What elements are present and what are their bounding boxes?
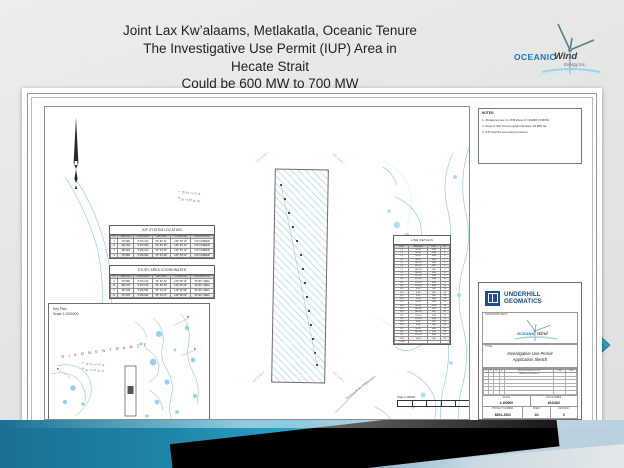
table-row: D373 8705 935 66053° 34' 07"130° 58' 00"… — [111, 293, 214, 298]
sheet-border-inner: H E C A T E S T R A I T — [31, 97, 593, 431]
table-title: IUP SYSTEM LOCATION — [110, 226, 214, 235]
underhill-geomatics-logo: UNDERHILL GEOMATICS — [482, 286, 578, 310]
table-body: PTEASTINGNORTHINGLATITUDELONGITUDEDESCRI… — [110, 235, 214, 259]
label-hecate-strait: H E C A T E S T R A I T — [176, 190, 201, 204]
notes-heading: NOTES: — [482, 111, 494, 115]
sheet-right-column: NOTES: 1. Distances are in UTM Zone 9, N… — [474, 106, 584, 420]
svg-text:Wind: Wind — [537, 331, 548, 336]
logo-subtitle: Energy Inc. — [564, 62, 586, 67]
iup-tenure-polygon[interactable] — [271, 169, 329, 384]
file-value: #041182 — [531, 401, 578, 405]
label-inset-hecate-strait: H E C A T E S T R A I T — [80, 362, 105, 374]
firm-name-line-2: GEOMATICS — [504, 298, 542, 305]
title-block-revision-table: NEWSREVISION DESCRIPTIONDWGCHK ISSUED FO… — [482, 368, 578, 396]
footer-highlight — [0, 420, 624, 428]
table-footer-row: TOTAL — [395, 340, 450, 343]
underhill-mark-icon — [485, 291, 500, 306]
project-caption: PROJECT NUMBER — [483, 408, 522, 410]
table-cell: 5 935 660 — [134, 293, 152, 298]
table-title: STUDY AREA COORDINATES — [110, 266, 214, 275]
revision-cell — [504, 390, 554, 394]
main-map[interactable]: H E C A T E S T R A I T — [44, 106, 470, 420]
client-logo-icon: OCEANIC Wind — [487, 317, 583, 343]
client-caption: CLIENT/PROJECT — [485, 313, 507, 316]
note-item-2: 2. Area of IUP Area is approximately 19,… — [482, 124, 547, 128]
note-item-1: 1. Distances are in UTM Zone 9, NAD83 (C… — [482, 118, 550, 122]
table-cell — [440, 340, 450, 343]
oceanic-wind-logo: OCEANIC Wind Energy Inc. — [508, 16, 614, 80]
table-cell — [428, 340, 440, 343]
revision-cell: REVISION 0 — [551, 407, 577, 418]
table-cell: D — [111, 293, 118, 298]
table-cell: TOTAL — [395, 340, 409, 343]
table-row: 4373 8905 935 68053° 34' 08"130° 58' 02"… — [111, 253, 214, 258]
table-rows: A373 8005 970 14053° 52' 42"130° 58' 14"… — [111, 279, 214, 298]
sheet-border-outer: H E C A T E S T R A I T — [27, 93, 597, 435]
scale-bar: Scale 1:100000 10 km — [397, 396, 470, 407]
underhill-name: UNDERHILL GEOMATICS — [504, 291, 542, 305]
note-item-3: 3. IUP Depths are using contours. — [482, 130, 528, 134]
svg-text:OCEANIC: OCEANIC — [517, 331, 536, 336]
inset-coastline — [49, 304, 209, 420]
table-cell: 130° 58' 02" — [171, 253, 191, 258]
notes-block: NOTES: 1. Distances are in UTM Zone 9, N… — [478, 108, 582, 164]
logo-oceanic-text: OCEANIC — [514, 52, 556, 62]
table-cell: STUDY AREA — [191, 293, 214, 298]
drawing-title: Investigative Use Permit Application Ske… — [483, 351, 577, 364]
scale-value: 1:100000 — [483, 401, 530, 405]
slide-footer-decoration — [0, 420, 624, 468]
annotation-leader-line — [333, 379, 393, 419]
title-line-3: Hecate Strait — [60, 58, 480, 76]
rev-value: 0 — [551, 413, 577, 417]
inset-key-plan[interactable]: Key Plan Scale 1:1000000 — [48, 303, 210, 420]
table-body: PTEASTINGNORTHINGLATITUDELONGITUDEDESCRI… — [110, 275, 214, 299]
table-cell: 53° 34' 08" — [152, 253, 170, 258]
table-cell: 53° 34' 07" — [152, 293, 170, 298]
table-cell — [409, 340, 428, 343]
table-body: LINEBEARINGDIST.No. L190°00'10001L290°00… — [394, 245, 450, 344]
north-arrow-icon — [71, 117, 81, 191]
drawing-sheet[interactable]: H E C A T E S T R A I T — [22, 88, 602, 440]
table-cell: IUP CORNER — [191, 253, 214, 258]
title-caption: TITLE — [485, 345, 492, 348]
file-caption: FILE NUMBER — [531, 397, 578, 399]
rev-caption: REVISION — [551, 408, 577, 410]
table-cell: 373 870 — [118, 293, 134, 298]
table-rows: 1373 8205 970 12053° 52' 41"130° 58' 12"… — [111, 239, 214, 258]
scale-bar-caption: Scale 1:100000 — [397, 396, 470, 399]
firm-name-line-1: UNDERHILL — [504, 291, 541, 298]
wind-turbine-icon — [508, 16, 614, 80]
table-study-area-coordinates[interactable]: STUDY AREA COORDINATES PTEASTINGNORTHING… — [109, 265, 215, 299]
revision-cell — [566, 390, 577, 394]
revision-rows: ISSUED FOR REVIEW — [484, 373, 577, 395]
table-iup-system-location[interactable]: IUP SYSTEM LOCATION PTEASTINGNORTHINGLAT… — [109, 225, 215, 259]
scale-cell: SCALE 1:100000 — [483, 396, 531, 406]
page-title: Joint Lax Kw’alaams, Metlakatla, Oceanic… — [60, 22, 480, 93]
drawing-title-line-2: Application Sketch — [513, 357, 547, 362]
table-cell: 130° 58' 00" — [171, 293, 191, 298]
scale-caption: SCALE — [483, 397, 530, 399]
title-block-title-cell: TITLE Investigative Use Permit Applicati… — [482, 344, 578, 368]
revision-cell — [554, 390, 566, 394]
revision-table: NEWSREVISION DESCRIPTIONDWGCHK ISSUED FO… — [483, 369, 577, 395]
file-number-cell: FILE NUMBER #041182 — [531, 396, 578, 406]
table-rows: L190°00'10001L290°00'10002L390°00'10003L… — [395, 248, 450, 343]
logo-wind-text: Wind — [554, 51, 577, 62]
title-block-bottom-row: PROJECT NUMBER 8204–2204 SHEET 1/1 REVIS… — [482, 406, 578, 419]
sheet-caption: SHEET — [523, 408, 549, 410]
title-line-1: Joint Lax Kw’alaams, Metlakatla, Oceanic… — [60, 22, 480, 40]
table-cell: 373 890 — [118, 253, 134, 258]
presentation-slide: Joint Lax Kw’alaams, Metlakatla, Oceanic… — [0, 0, 624, 468]
project-value: 8204–2204 — [483, 413, 522, 417]
drawing-title-line-1: Investigative Use Permit — [507, 351, 552, 356]
table-line-details[interactable]: LINE DETAILS LINEBEARINGDIST.No. L190°00… — [393, 235, 451, 345]
sheet-value: 1/1 — [523, 413, 549, 417]
table-cell: 5 935 680 — [134, 253, 153, 258]
title-line-2: The Investigative Use Permit (IUP) Area … — [60, 40, 480, 58]
revision-row — [484, 390, 577, 394]
sheet-cell: SHEET 1/1 — [523, 407, 550, 418]
title-block[interactable]: UNDERHILL GEOMATICS CLIENT/PROJECT — [478, 282, 582, 420]
table-cell: 4 — [111, 253, 118, 258]
project-number-cell: PROJECT NUMBER 8204–2204 — [483, 407, 523, 418]
table-title: LINE DETAILS — [394, 236, 450, 245]
title-block-client-cell: CLIENT/PROJECT OCEANIC Wind — [482, 312, 578, 344]
scale-bar-ticks — [397, 400, 470, 407]
